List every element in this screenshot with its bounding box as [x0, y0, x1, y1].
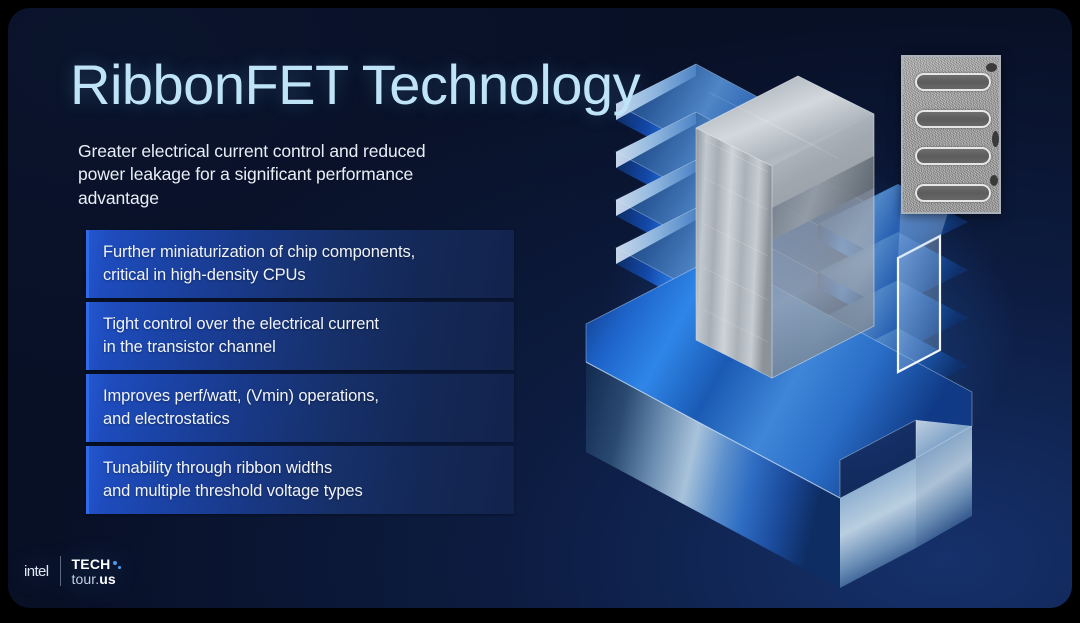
bullet-item-1[interactable]: Further miniaturization of chip componen…	[86, 230, 514, 298]
logo-bar: intel TECH tour.us	[16, 554, 121, 588]
tech-tour-dot-small-icon	[118, 566, 121, 569]
intel-logo: intel	[16, 563, 60, 580]
tech-tour-logo: TECH tour.us	[61, 557, 121, 586]
slide-frame: RibbonFET Technology Greater electrical …	[8, 8, 1072, 608]
tech-tour-top-line: TECH	[72, 557, 121, 571]
bullet-item-2[interactable]: Tight control over the electrical curren…	[86, 302, 514, 370]
bullet-item-3[interactable]: Improves perf/watt, (Vmin) operations, a…	[86, 374, 514, 442]
tech-tour-us-label: us	[99, 571, 116, 587]
page-title: RibbonFET Technology	[70, 56, 640, 115]
tech-tour-tech-label: TECH	[72, 556, 111, 572]
bullet-item-3-text: Improves perf/watt, (Vmin) operations, a…	[103, 385, 379, 431]
tem-artifact-1	[986, 63, 997, 72]
bullet-item-1-text: Further miniaturization of chip componen…	[103, 241, 415, 287]
tem-micrograph-inset	[901, 55, 1001, 214]
bullet-item-2-text: Tight control over the electrical curren…	[103, 313, 379, 359]
gate-electrode	[696, 76, 874, 378]
tem-nanoribbon-2	[915, 110, 991, 128]
tem-nanoribbon-1	[915, 73, 991, 91]
bullet-item-4[interactable]: Tunability through ribbon widths and mul…	[86, 446, 514, 514]
bullet-list: Further miniaturization of chip componen…	[86, 230, 514, 514]
tech-tour-tour-label: tour.	[72, 571, 100, 587]
tem-artifact-2	[992, 131, 999, 147]
tem-nanoribbon-3	[915, 147, 991, 165]
bullet-item-4-text: Tunability through ribbon widths and mul…	[103, 457, 363, 503]
page-subtitle: Greater electrical current control and r…	[78, 140, 438, 210]
tem-nanoribbon-4	[915, 184, 991, 202]
tech-tour-dot-icon	[113, 561, 117, 565]
tem-artifact-3	[990, 175, 998, 186]
tech-tour-bottom-line: tour.us	[72, 572, 121, 586]
